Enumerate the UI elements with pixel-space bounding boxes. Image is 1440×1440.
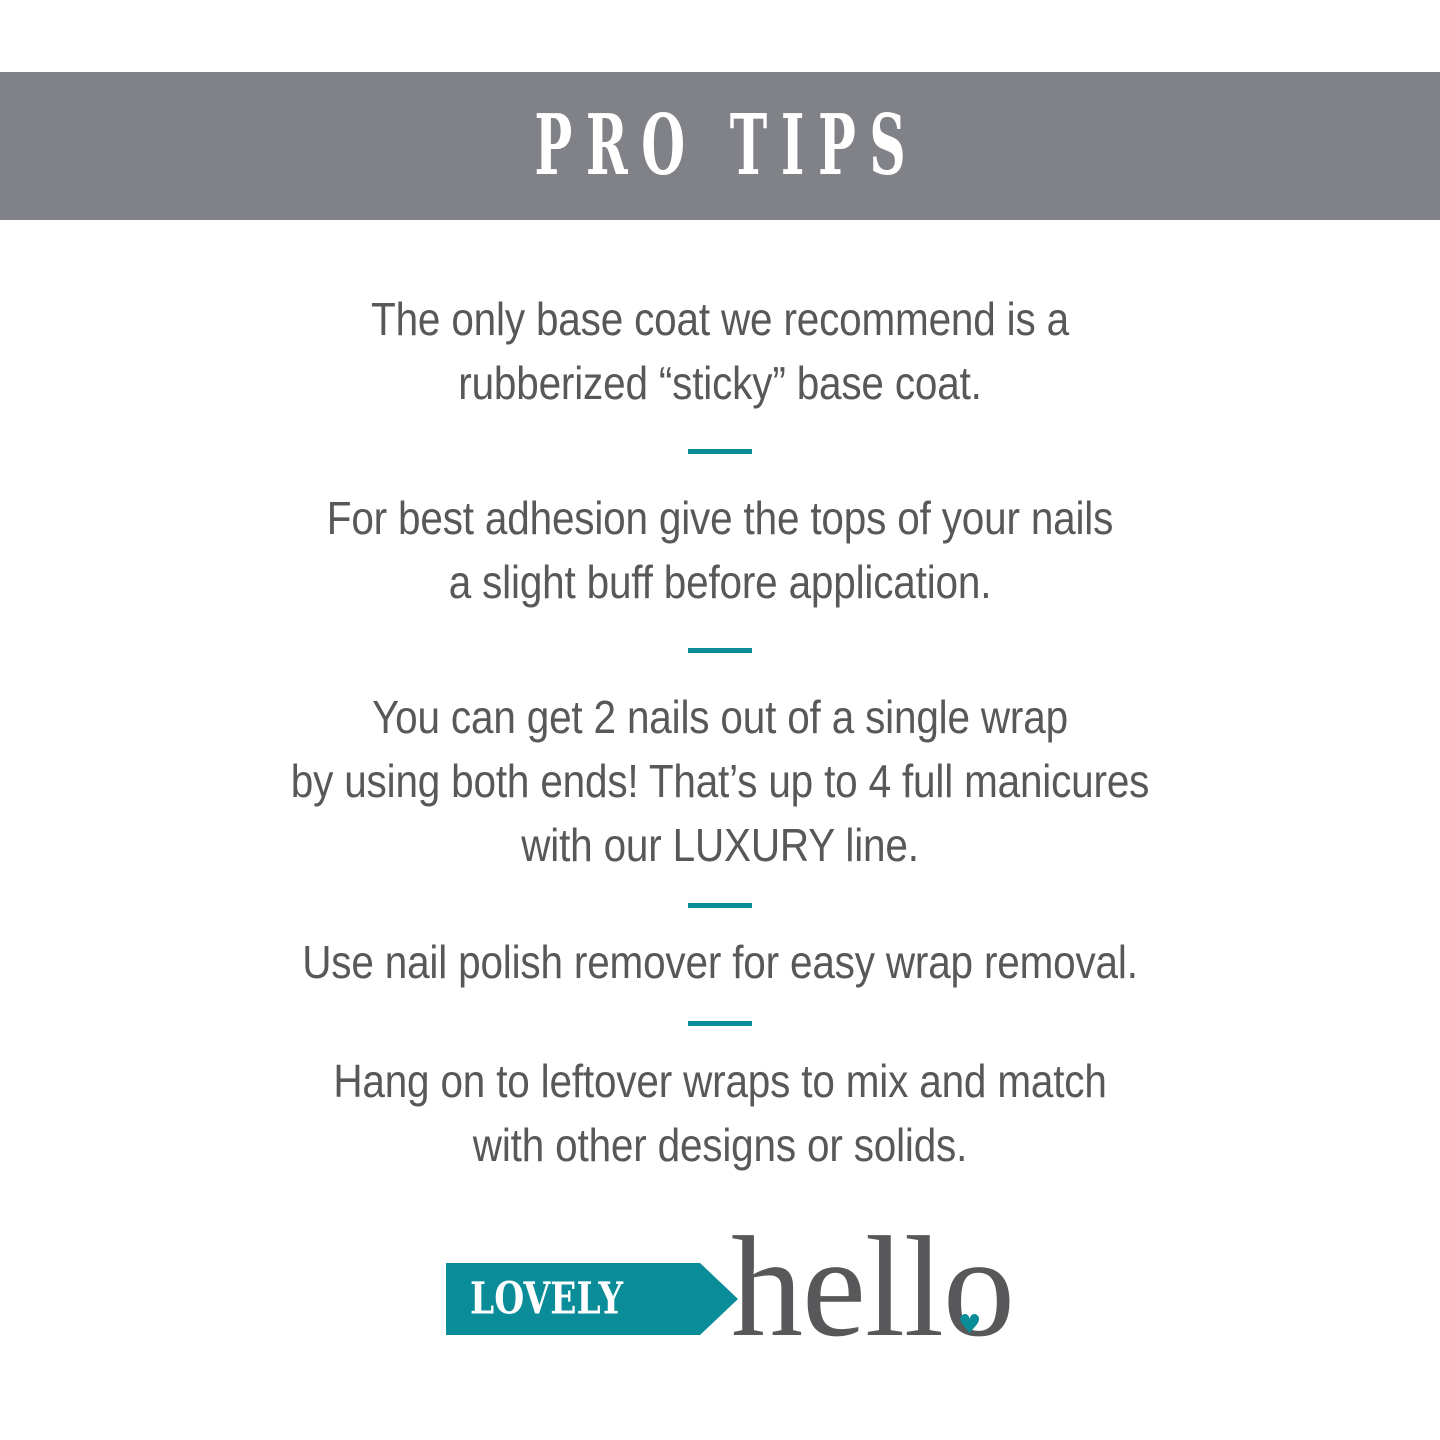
logo-banner-arrow-icon: LOVELY bbox=[446, 1263, 738, 1335]
logo-inner: LOVELY hello ♥ bbox=[446, 1228, 994, 1368]
tip-item: For best adhesion give the tops of your … bbox=[86, 486, 1353, 614]
divider-wrap bbox=[0, 877, 1440, 930]
tip-divider bbox=[688, 449, 752, 454]
tip-divider bbox=[688, 1021, 752, 1026]
tip-divider bbox=[688, 648, 752, 653]
tip-divider bbox=[688, 903, 752, 908]
divider-wrap bbox=[0, 415, 1440, 486]
tip-item: Use nail polish remover for easy wrap re… bbox=[86, 930, 1353, 994]
divider-wrap bbox=[0, 614, 1440, 685]
pro-tips-page: PRO TIPS The only base coat we recommend… bbox=[0, 0, 1440, 1440]
heart-icon: ♥ bbox=[958, 1316, 978, 1334]
divider-wrap bbox=[0, 994, 1440, 1049]
tip-item: You can get 2 nails out of a single wrap… bbox=[86, 685, 1353, 877]
page-title: PRO TIPS bbox=[521, 105, 920, 188]
brand-logo[interactable]: LOVELY hello ♥ bbox=[0, 1228, 1440, 1388]
tip-item: Hang on to leftover wraps to mix and mat… bbox=[86, 1049, 1353, 1177]
header-bar: PRO TIPS bbox=[0, 72, 1440, 220]
logo-banner-label: LOVELY bbox=[470, 1277, 623, 1321]
tips-list: The only base coat we recommend is a rub… bbox=[0, 220, 1440, 1177]
tip-item: The only base coat we recommend is a rub… bbox=[86, 287, 1353, 415]
